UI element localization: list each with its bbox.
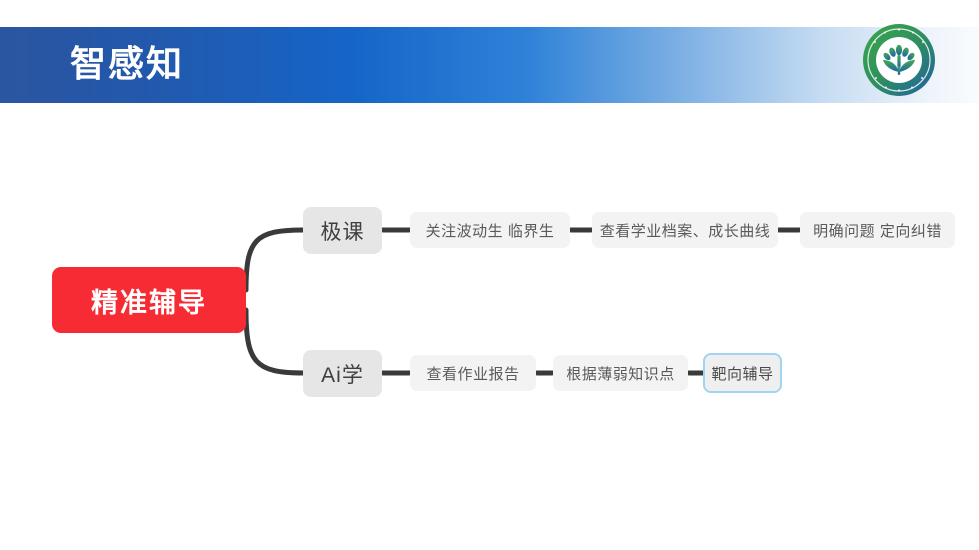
- mindmap-leaf-node[interactable]: 查看学业档案、成长曲线: [592, 212, 778, 248]
- mindmap-leaf-node[interactable]: 查看作业报告: [410, 355, 536, 391]
- mindmap-leaf-node[interactable]: 根据薄弱知识点: [553, 355, 688, 391]
- mindmap-root-node[interactable]: 精准辅导: [52, 267, 246, 333]
- page-title: 智感知: [70, 40, 184, 88]
- mindmap-canvas: 精准辅导 极课 关注波动生 临界生 查看学业档案、成长曲线 明确问题 定向纠错 …: [0, 110, 979, 550]
- mindmap-branch-node-jike[interactable]: 极课: [303, 207, 382, 254]
- mindmap-branch-node-aixue[interactable]: Ai学: [303, 350, 382, 397]
- school-emblem-logo: [861, 22, 937, 98]
- mindmap-leaf-node[interactable]: 关注波动生 临界生: [410, 212, 570, 248]
- mindmap-leaf-node[interactable]: 明确问题 定向纠错: [800, 212, 955, 248]
- mindmap-leaf-node-selected[interactable]: 靶向辅导: [703, 353, 782, 393]
